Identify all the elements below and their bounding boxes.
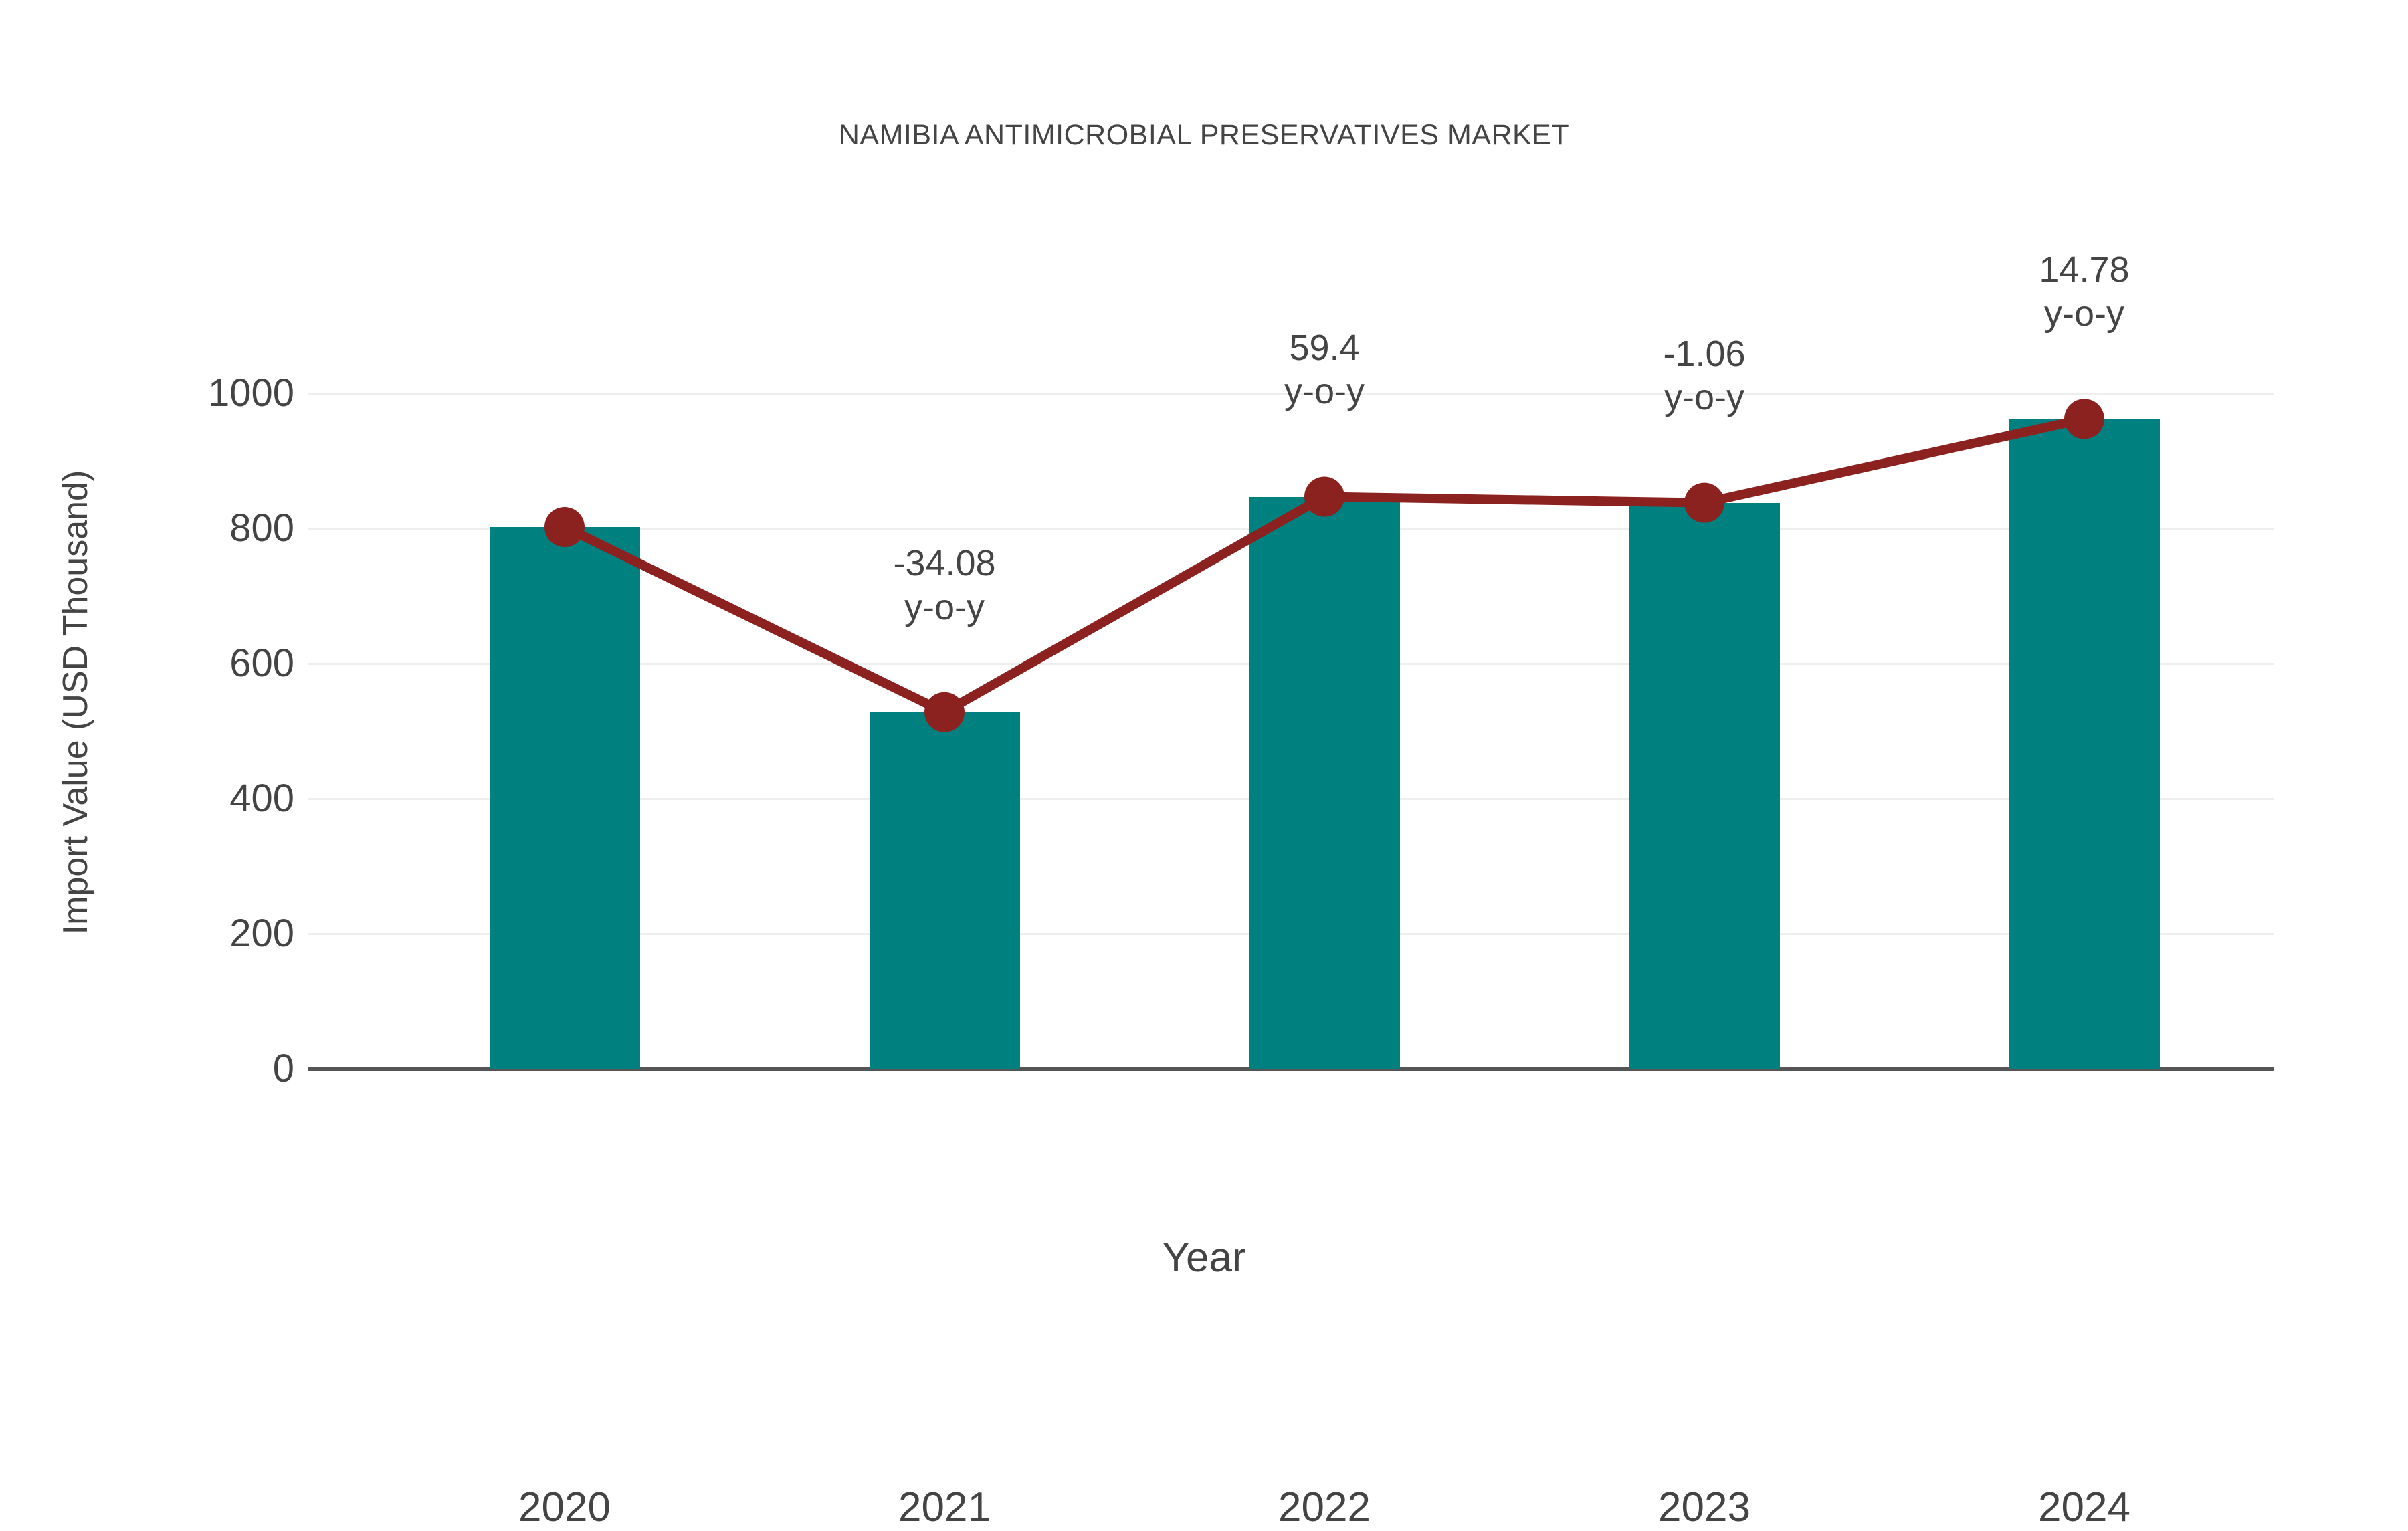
x-axis-tick-label-2022: 2022 [1191, 1484, 1458, 1531]
yoy-value: -1.06 [1550, 332, 1858, 377]
yoy-suffix: y-o-y [1550, 376, 1858, 420]
gridline-extension [308, 798, 375, 800]
gridline-extension [308, 393, 375, 395]
plot-area: 02004006008001000 20202021202220232024 [375, 393, 2274, 1069]
x-axis-tick-label-2023: 2023 [1571, 1484, 1838, 1531]
page-title: NAMIBIA ANTIMICROBIAL PRESERVATIVES MARK… [0, 119, 2408, 152]
yoy-label-2023: -1.06y-o-y [1550, 332, 1858, 421]
x-axis-tick-label-2021: 2021 [811, 1484, 1078, 1531]
yoy-label-2024: 14.78y-o-y [1930, 248, 2238, 336]
bar-2021[interactable] [870, 712, 1020, 1069]
yoy-value: -34.08 [791, 542, 1098, 586]
yoy-label-2022: 59.4y-o-y [1171, 326, 1478, 415]
bar-2020[interactable] [490, 527, 640, 1069]
bar-2022[interactable] [1249, 497, 1400, 1069]
bar-2023[interactable] [1629, 503, 1780, 1069]
gridline-extension [308, 1067, 375, 1071]
yoy-suffix: y-o-y [791, 586, 1098, 630]
yoy-suffix: y-o-y [1171, 370, 1478, 414]
x-axis-tick-label-2020: 2020 [431, 1484, 698, 1531]
yoy-value: 59.4 [1171, 326, 1478, 371]
x-axis-title: Year [0, 1234, 2408, 1282]
yoy-label-2021: -34.08y-o-y [791, 542, 1098, 630]
gridline-extension [308, 933, 375, 935]
bar-2024[interactable] [2009, 419, 2160, 1069]
chart-figure: NAMIBIA ANTIMICROBIAL PRESERVATIVES MARK… [0, 0, 2408, 1354]
gridline-extension [308, 663, 375, 665]
yoy-suffix: y-o-y [1930, 292, 2238, 336]
x-axis-tick-label-2024: 2024 [1950, 1484, 2218, 1531]
yoy-value: 14.78 [1930, 248, 2238, 292]
gridline-extension [308, 528, 375, 530]
y-axis-title: Import Value (USD Thousand) [39, 334, 112, 1070]
